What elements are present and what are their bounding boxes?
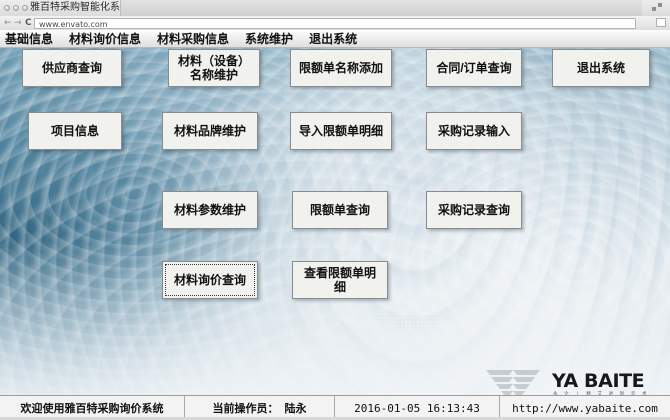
forward-arrow-icon[interactable]: → [14, 18, 22, 28]
bookmark-icon[interactable] [656, 18, 666, 27]
window-restore-icon[interactable] [651, 3, 667, 13]
status-operator-name: 陆永 [285, 400, 307, 416]
minimize-window-button[interactable] [13, 5, 19, 11]
address-bar[interactable]: www.envato.com [34, 18, 636, 29]
logo-mark-icon [478, 368, 548, 395]
button-contract-order-query[interactable]: 合同/订单查询 [426, 49, 522, 87]
app-window: 雅百特采购智能化系统 ← → C www.envato.com 基础信息 材料询… [0, 0, 670, 420]
close-window-button[interactable] [4, 5, 10, 11]
button-material-name-maint[interactable]: 材料（设备） 名称维护 [168, 49, 260, 87]
menu-item-exit-system[interactable]: 退出系统 [301, 30, 365, 48]
button-view-quota-detail[interactable]: 查看限额单明细 [292, 261, 388, 299]
browser-navbar: ← → C www.envato.com [0, 16, 670, 30]
back-arrow-icon[interactable]: ← [4, 18, 12, 28]
address-bar-text: www.envato.com [39, 19, 108, 30]
logo-english-name: YA BAITE [552, 370, 644, 392]
company-logo: YA BAITE 永 企 丨 精 艾 进 饭 云 术 [478, 364, 664, 395]
reload-icon[interactable]: C [25, 18, 32, 28]
browser-titlebar: 雅百特采购智能化系统 [0, 0, 670, 16]
button-quota-name-add[interactable]: 限额单名称添加 [290, 49, 392, 87]
button-import-quota-detail[interactable]: 导入限额单明细 [290, 112, 392, 150]
menu-item-inquiry-info[interactable]: 材料询价信息 [61, 30, 149, 48]
window-title: 雅百特采购智能化系统 [30, 1, 130, 15]
button-purchase-record-query[interactable]: 采购记录查询 [426, 191, 522, 229]
window-controls[interactable] [4, 5, 28, 11]
browser-chrome: 雅百特采购智能化系统 ← → C www.envato.com [0, 0, 670, 30]
button-material-inquiry-query[interactable]: 材料询价查询 [162, 261, 258, 299]
button-material-brand-maint[interactable]: 材料品牌维护 [162, 112, 258, 150]
maximize-window-button[interactable] [22, 5, 28, 11]
browser-tabstrip[interactable] [120, 0, 642, 16]
menu-item-system-maint[interactable]: 系统维护 [237, 30, 301, 48]
button-exit-system[interactable]: 退出系统 [552, 49, 650, 87]
button-purchase-record-input[interactable]: 采购记录输入 [426, 112, 522, 150]
status-operator-label: 当前操作员： [213, 400, 279, 416]
button-quota-query[interactable]: 限额单查询 [292, 191, 388, 229]
button-material-param-maint[interactable]: 材料参数维护 [162, 191, 258, 229]
main-workspace: 供应商查询 材料（设备） 名称维护 限额单名称添加 合同/订单查询 退出系统 项… [0, 48, 670, 395]
menu-item-basic-info[interactable]: 基础信息 [0, 30, 61, 48]
main-menubar: 基础信息 材料询价信息 材料采购信息 系统维护 退出系统 [0, 30, 670, 48]
button-project-info[interactable]: 项目信息 [28, 112, 122, 150]
logo-text-group: YA BAITE 永 企 丨 精 艾 进 饭 云 术 [552, 368, 664, 395]
button-supplier-query[interactable]: 供应商查询 [22, 49, 122, 87]
menu-item-purchase-info[interactable]: 材料采购信息 [149, 30, 237, 48]
